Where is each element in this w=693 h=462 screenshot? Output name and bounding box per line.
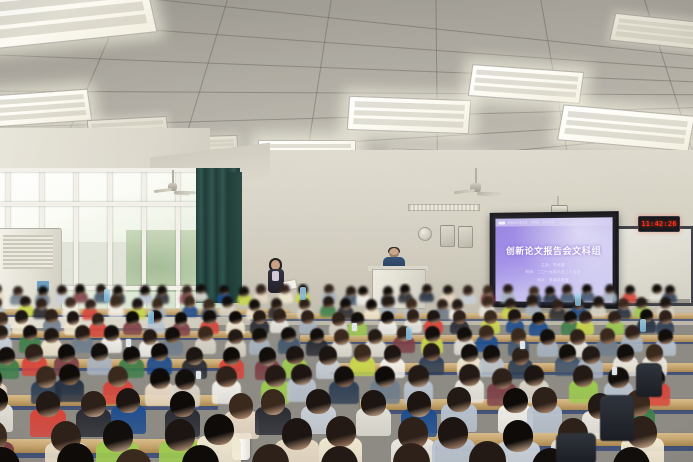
audience-head bbox=[253, 310, 266, 323]
audience-head bbox=[151, 343, 168, 361]
audience-head bbox=[407, 309, 420, 322]
audience-head bbox=[593, 296, 604, 308]
slide-header-text: 创新论文报告会 · 文科组 · 学术交流 bbox=[508, 220, 554, 224]
audience-member bbox=[393, 443, 430, 462]
audience-member bbox=[613, 447, 650, 462]
audience-head bbox=[196, 284, 206, 295]
smartphone bbox=[126, 339, 131, 347]
audience-member bbox=[0, 447, 20, 462]
audience-head bbox=[103, 420, 133, 452]
audience-member bbox=[126, 311, 139, 333]
backpack bbox=[600, 395, 634, 441]
audience-head bbox=[92, 313, 105, 326]
audience-head bbox=[407, 391, 431, 417]
audience-member bbox=[150, 368, 170, 403]
ceiling-fan bbox=[475, 168, 476, 169]
audience-head bbox=[570, 329, 585, 345]
slide-subtitle-1: 主办：学术部 bbox=[495, 262, 612, 267]
audience-head bbox=[425, 326, 440, 342]
audience-head bbox=[505, 298, 516, 310]
audience-head bbox=[239, 286, 249, 297]
lecture-hall-photo: 11:42:26 创新论文报告会 · 文科组 · 学术交流 创新论文报告会文科组… bbox=[0, 0, 693, 462]
audience-area bbox=[0, 283, 693, 462]
audience-head bbox=[259, 347, 276, 365]
audience-head bbox=[382, 296, 393, 308]
audience-member bbox=[366, 299, 377, 318]
audience-head bbox=[249, 299, 260, 311]
audience-head bbox=[57, 443, 94, 462]
audience-member bbox=[552, 299, 563, 318]
audience-head bbox=[636, 297, 647, 309]
ceiling-light bbox=[468, 64, 584, 104]
audience-head bbox=[223, 347, 240, 365]
audience-head bbox=[552, 299, 563, 311]
audience-head bbox=[25, 344, 42, 362]
audience-head bbox=[252, 328, 267, 344]
audience-head bbox=[658, 329, 673, 345]
fan-rod bbox=[172, 170, 174, 184]
desk-edge bbox=[250, 319, 693, 321]
audience-head bbox=[427, 310, 440, 323]
audience-head bbox=[45, 309, 58, 322]
slide-header-bar: 创新论文报告会 · 文科组 · 学术交流 bbox=[495, 217, 612, 226]
audience-head bbox=[110, 296, 121, 308]
audience-head bbox=[81, 391, 105, 417]
audience-head bbox=[126, 311, 139, 324]
smartphone bbox=[520, 341, 525, 349]
audience-member bbox=[605, 284, 615, 301]
audience-head bbox=[36, 391, 60, 417]
audience-head bbox=[229, 311, 242, 324]
audience-head bbox=[0, 447, 20, 462]
ceiling-light bbox=[0, 89, 92, 128]
audience-head bbox=[321, 446, 358, 462]
audience-head bbox=[354, 344, 371, 362]
audience-head bbox=[228, 329, 243, 345]
slide-title: 创新论文报告会文科组 bbox=[495, 244, 612, 257]
audience-member bbox=[182, 445, 219, 462]
audience-head bbox=[291, 364, 311, 385]
audience-head bbox=[286, 346, 303, 364]
audience-head bbox=[479, 325, 494, 341]
audience-head bbox=[175, 369, 195, 390]
audience-head bbox=[165, 327, 180, 343]
audience-head bbox=[524, 365, 544, 386]
audience-head bbox=[532, 312, 545, 325]
audience-head bbox=[85, 299, 96, 311]
audience-member bbox=[469, 441, 506, 462]
audience-head bbox=[452, 299, 463, 311]
audience-head bbox=[334, 366, 354, 387]
audience-head bbox=[447, 387, 471, 413]
audience-head bbox=[265, 365, 285, 386]
audience-head bbox=[273, 309, 286, 322]
audience-head bbox=[170, 391, 194, 417]
audience-head bbox=[113, 285, 123, 296]
smartphone bbox=[352, 323, 357, 331]
audience-head bbox=[605, 284, 615, 295]
audience-member bbox=[0, 347, 15, 376]
audience-head bbox=[67, 311, 80, 324]
audience-head bbox=[503, 284, 513, 295]
audience-member bbox=[115, 449, 152, 462]
audience-head bbox=[115, 449, 152, 462]
audience-member bbox=[593, 296, 604, 315]
slide-logo-icon bbox=[498, 221, 505, 224]
audience-head bbox=[340, 298, 351, 310]
audience-member bbox=[600, 328, 615, 353]
audience-head bbox=[483, 345, 500, 363]
clock-time-text: 11:42:26 bbox=[641, 220, 676, 228]
audience-head bbox=[132, 298, 143, 310]
audience-member bbox=[92, 313, 105, 335]
audience-head bbox=[123, 346, 140, 364]
audience-head bbox=[503, 388, 527, 414]
audience-head bbox=[665, 285, 675, 296]
water-bottle bbox=[575, 293, 581, 306]
audience-head bbox=[36, 298, 47, 310]
audience-member bbox=[354, 344, 371, 373]
audience-head bbox=[326, 416, 356, 448]
audience-head bbox=[301, 310, 314, 323]
audience-head bbox=[186, 347, 203, 365]
audience-head bbox=[361, 390, 385, 416]
audience-head bbox=[618, 298, 629, 310]
audience-member bbox=[252, 444, 289, 462]
speaker-icon-right bbox=[458, 226, 473, 248]
backpack bbox=[636, 363, 662, 397]
audience-head bbox=[140, 285, 150, 296]
audience-member bbox=[321, 446, 358, 462]
audience-head bbox=[457, 327, 472, 343]
audience-head bbox=[281, 327, 296, 343]
audience-head bbox=[659, 310, 672, 323]
audience-member bbox=[463, 285, 473, 302]
audience-head bbox=[108, 366, 128, 387]
light-slat bbox=[263, 144, 351, 148]
smartphone bbox=[196, 371, 201, 379]
audience-member bbox=[361, 390, 385, 431]
audience-member bbox=[562, 284, 572, 301]
audience-head bbox=[310, 328, 325, 344]
audience-head bbox=[182, 445, 219, 462]
audience-head bbox=[319, 346, 336, 364]
water-bottle bbox=[640, 319, 646, 332]
audience-head bbox=[58, 344, 75, 362]
audience-head bbox=[150, 368, 170, 389]
audience-head bbox=[512, 347, 529, 365]
audience-head bbox=[508, 309, 521, 322]
audience-member bbox=[75, 325, 90, 350]
ceiling-fan bbox=[172, 170, 173, 171]
audience-head bbox=[59, 364, 79, 385]
audience-head bbox=[469, 441, 506, 462]
audience-head bbox=[484, 310, 497, 323]
audience-head bbox=[540, 329, 555, 345]
curtain-right bbox=[228, 172, 242, 300]
audience-head bbox=[617, 344, 634, 362]
audience-head bbox=[438, 417, 468, 449]
audience-member bbox=[503, 420, 533, 462]
audience-head bbox=[646, 344, 663, 362]
audience-head bbox=[256, 284, 266, 295]
audience-head bbox=[384, 345, 401, 363]
audience-member bbox=[532, 387, 556, 428]
audience-head bbox=[600, 328, 615, 344]
audience-head bbox=[423, 343, 440, 361]
audience-head bbox=[252, 444, 289, 462]
audience-head bbox=[660, 297, 671, 309]
audience-head bbox=[306, 389, 330, 415]
audience-member bbox=[280, 284, 290, 301]
audience-head bbox=[613, 447, 650, 462]
audience-head bbox=[483, 285, 493, 296]
audience-head bbox=[91, 343, 108, 361]
audience-head bbox=[443, 285, 453, 296]
audience-head bbox=[652, 284, 662, 295]
audience-head bbox=[203, 299, 214, 311]
audience-head bbox=[38, 286, 48, 297]
audience-head bbox=[219, 285, 229, 296]
water-bottle bbox=[300, 287, 306, 300]
audience-head bbox=[44, 328, 59, 344]
ceiling-light bbox=[609, 13, 693, 51]
backpack bbox=[556, 433, 596, 462]
assistant-shirt bbox=[272, 271, 279, 281]
water-bottle bbox=[148, 311, 154, 324]
audience-head bbox=[463, 285, 473, 296]
smartphone bbox=[612, 367, 617, 375]
speaker-icon-left bbox=[418, 227, 432, 241]
audience-member bbox=[334, 366, 354, 401]
light-slat bbox=[354, 110, 465, 119]
wall-vent bbox=[408, 204, 480, 211]
audience-member bbox=[59, 364, 79, 399]
audience-head bbox=[23, 325, 38, 341]
audience-head bbox=[453, 310, 466, 323]
audience-head bbox=[216, 366, 236, 387]
ceiling-light bbox=[0, 0, 157, 51]
audience-member bbox=[381, 311, 394, 333]
ceiling-grid-line bbox=[0, 50, 693, 87]
water-bottle bbox=[406, 327, 412, 340]
audience-head bbox=[459, 364, 479, 385]
audience-head bbox=[562, 284, 572, 295]
audience-head bbox=[422, 284, 432, 295]
audience-head bbox=[482, 296, 493, 308]
audience-head bbox=[408, 365, 428, 386]
audience-head bbox=[406, 298, 417, 310]
audience-member bbox=[57, 443, 94, 462]
ceiling-light bbox=[347, 96, 471, 134]
audience-head bbox=[65, 297, 76, 309]
audience-head bbox=[203, 310, 216, 323]
audience-head bbox=[393, 443, 430, 462]
ac-grille-icon bbox=[3, 235, 53, 269]
audience-head bbox=[15, 310, 28, 323]
audience-head bbox=[36, 366, 56, 387]
audience-head bbox=[625, 325, 640, 341]
audience-head bbox=[204, 414, 234, 446]
audience-head bbox=[527, 295, 538, 307]
audience-head bbox=[75, 325, 90, 341]
audience-head bbox=[271, 298, 282, 310]
wall-clock: 11:42:26 bbox=[638, 216, 680, 232]
audience-head bbox=[381, 311, 394, 324]
audience-member bbox=[422, 284, 432, 301]
audience-head bbox=[559, 344, 576, 362]
audience-member bbox=[540, 329, 555, 354]
audience-head bbox=[332, 312, 345, 325]
audience-head bbox=[261, 389, 285, 415]
audience-head bbox=[75, 284, 85, 295]
audience-head bbox=[358, 286, 368, 297]
audience-head bbox=[157, 285, 167, 296]
slide-subtitle-2: 时间：二〇一九年六月二十五日 bbox=[495, 270, 612, 275]
audience-head bbox=[503, 420, 533, 452]
audience-head bbox=[579, 311, 592, 324]
audience-head bbox=[182, 285, 192, 296]
audience-member bbox=[438, 417, 468, 462]
audience-head bbox=[346, 286, 356, 297]
audience-head bbox=[625, 285, 635, 296]
light-slat bbox=[353, 118, 464, 127]
audience-head bbox=[175, 312, 188, 325]
audience-head bbox=[334, 329, 349, 345]
audience-head bbox=[198, 326, 213, 342]
audience-head bbox=[152, 298, 163, 310]
speaker-icon-center bbox=[440, 225, 455, 247]
audience-head bbox=[375, 366, 395, 387]
audience-head bbox=[492, 368, 512, 389]
audience-head bbox=[222, 296, 233, 308]
fan-rod bbox=[475, 168, 477, 184]
audience-head bbox=[573, 365, 593, 386]
ceiling-grid-line bbox=[0, 90, 693, 96]
audience-head bbox=[564, 311, 577, 324]
audience-head bbox=[366, 299, 377, 311]
light-slat bbox=[354, 102, 465, 111]
audience-head bbox=[0, 347, 15, 365]
audience-head bbox=[116, 388, 140, 414]
audience-head bbox=[104, 325, 119, 341]
water-bottle bbox=[104, 289, 110, 302]
audience-member bbox=[91, 343, 108, 372]
audience-head bbox=[461, 344, 478, 362]
audience-head bbox=[532, 387, 556, 413]
audience-head bbox=[608, 311, 621, 324]
audience-head bbox=[323, 296, 334, 308]
audience-member bbox=[110, 296, 121, 315]
audience-head bbox=[582, 346, 599, 364]
